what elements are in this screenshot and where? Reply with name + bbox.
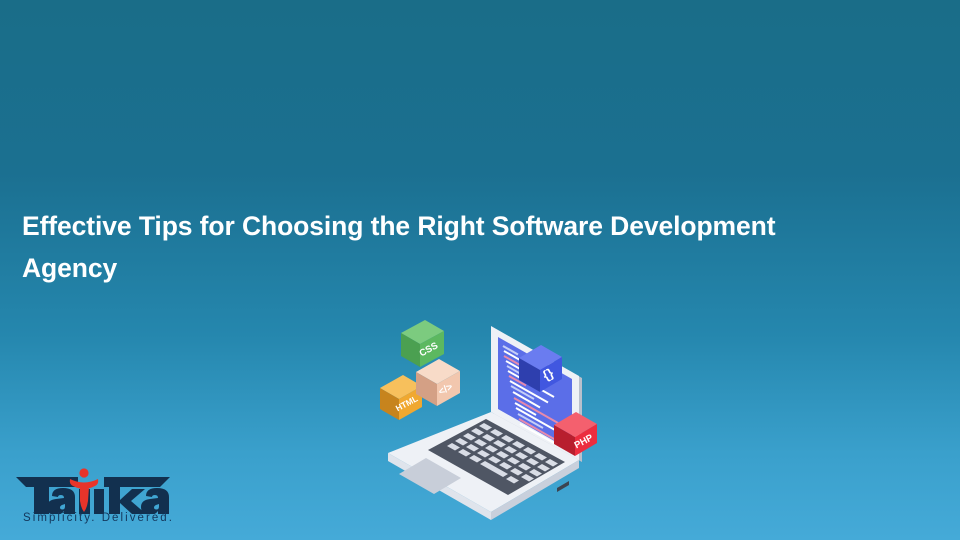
html-badge: HTML [380,375,422,420]
title-line-1: Effective Tips for Choosing the Right So… [22,205,942,247]
laptop-illustration-svg: CSS HTML </> {} [368,310,608,540]
logo-letter-i [94,489,104,514]
logo-letter-a1 [47,488,75,514]
logo-left-wing [16,477,78,487]
logo-wordmark-graphic [12,468,202,514]
title-line-2: Agency [22,247,942,289]
page-title: Effective Tips for Choosing the Right So… [22,205,942,289]
laptop-illustration: CSS HTML </> {} [368,310,608,540]
presentation-slide: Effective Tips for Choosing the Right So… [0,0,960,540]
laptop-port [557,481,569,492]
logo-letter-T [34,487,49,514]
logo-tagline: Simplicity. Delivered. [23,512,174,524]
code-tag-badge: </> [416,359,460,406]
brand-logo[interactable]: Simplicity. Delivered. [12,468,202,530]
logo-letter-a2 [141,488,169,514]
